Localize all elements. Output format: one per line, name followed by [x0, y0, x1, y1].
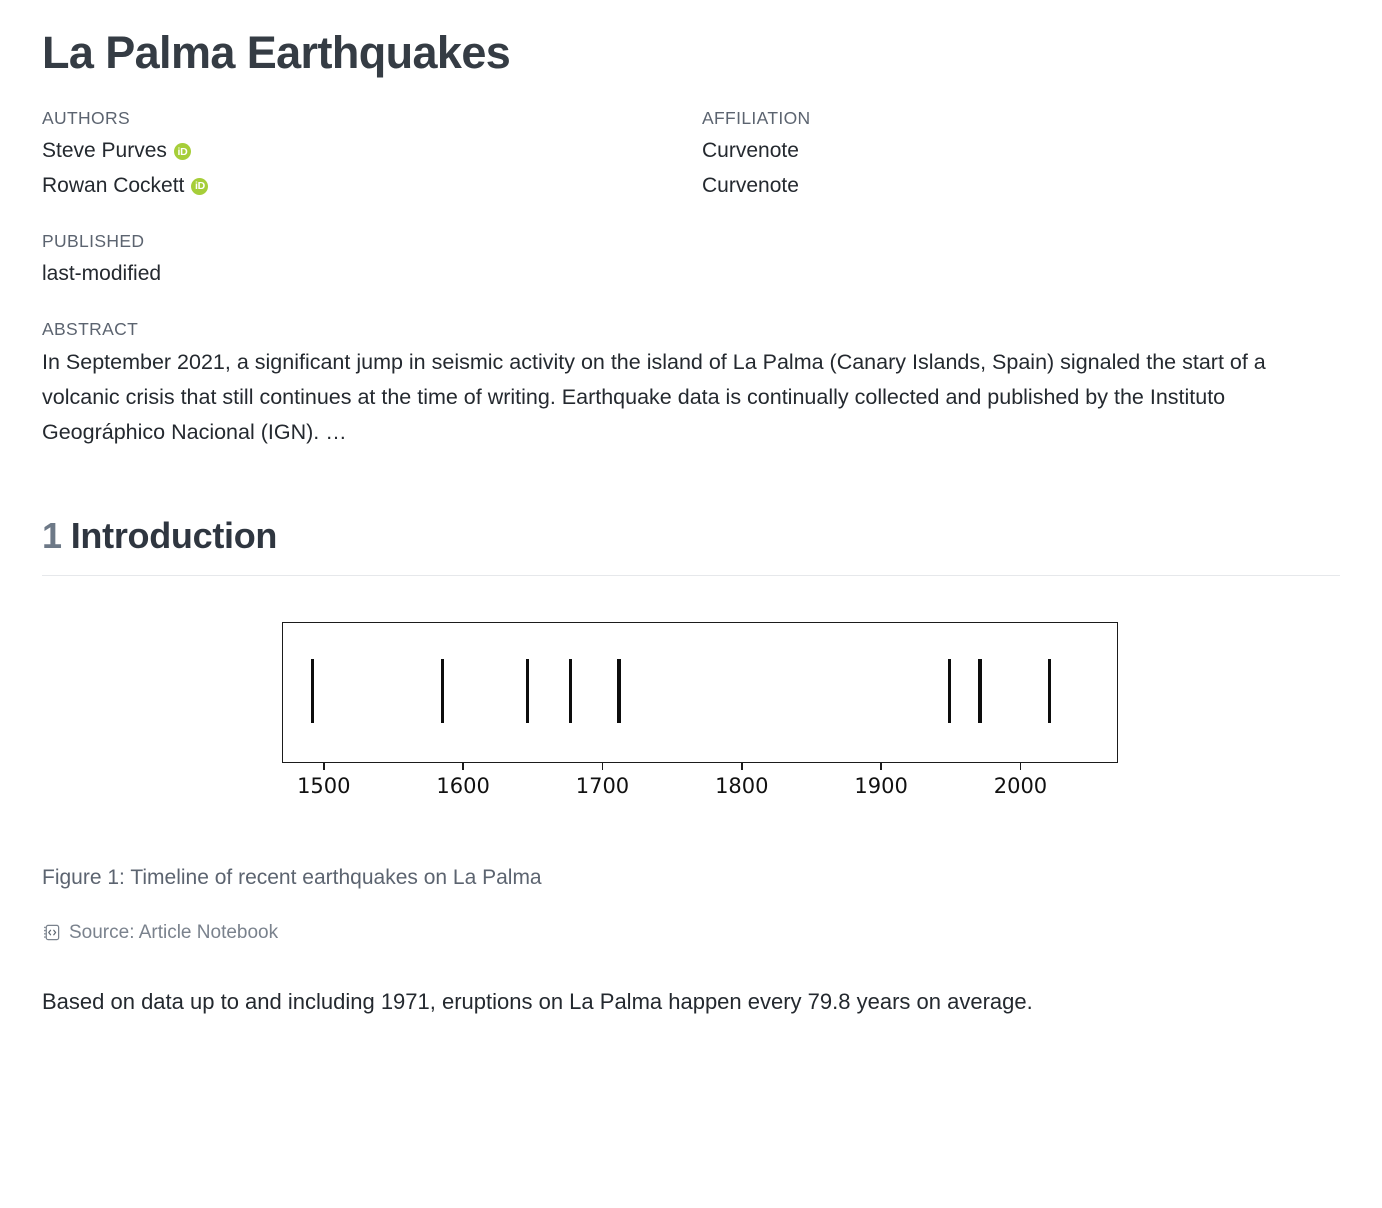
published-value: last-modified	[42, 257, 1360, 290]
x-axis-tick	[323, 763, 325, 770]
event-mark	[441, 659, 444, 723]
published-block: PUBLISHED last-modified	[42, 228, 1360, 290]
affiliation-value: Curvenote	[702, 134, 1360, 167]
x-axis-tick	[462, 763, 464, 770]
event-mark	[1048, 659, 1051, 723]
timeline-plot-wrap: 150016001700180019002000	[42, 622, 1360, 818]
author-entry: Steve Purves iD	[42, 134, 702, 167]
published-label: PUBLISHED	[42, 228, 1360, 254]
x-axis-tick-label: 2000	[994, 774, 1047, 798]
section-title: Introduction	[71, 515, 277, 556]
author-name: Steve Purves	[42, 134, 167, 167]
x-axis-tick-label: 1700	[576, 774, 629, 798]
x-axis-tick-label: 1600	[436, 774, 489, 798]
figure-source-label: Source: Article Notebook	[69, 920, 278, 947]
abstract-block: ABSTRACT In September 2021, a significan…	[42, 316, 1360, 450]
orcid-icon[interactable]: iD	[191, 178, 208, 195]
affiliation-label: AFFILIATION	[702, 105, 1360, 131]
page-title: La Palma Earthquakes	[42, 26, 1360, 79]
abstract-label: ABSTRACT	[42, 316, 1360, 342]
author-entry: Rowan Cockett iD	[42, 169, 702, 202]
x-axis-tick-label: 1900	[854, 774, 907, 798]
event-mark	[526, 659, 529, 723]
x-axis-tick	[880, 763, 882, 770]
event-mark	[978, 659, 981, 723]
orcid-icon-label: iD	[195, 181, 205, 192]
abstract-text: In September 2021, a significant jump in…	[42, 345, 1342, 449]
event-mark	[311, 659, 314, 723]
x-axis-tick-label: 1800	[715, 774, 768, 798]
figure-source[interactable]: Source: Article Notebook	[42, 920, 1360, 947]
plot-frame	[282, 622, 1118, 763]
event-mark	[948, 659, 951, 723]
frontmatter: AUTHORS Steve Purves iD Rowan Cockett iD…	[42, 105, 1360, 202]
x-axis-tick	[1020, 763, 1022, 770]
x-axis-tick	[741, 763, 743, 770]
figure-caption: Figure 1: Timeline of recent earthquakes…	[42, 862, 1360, 894]
section-number: 1	[42, 515, 62, 556]
authors-label: AUTHORS	[42, 105, 702, 131]
event-mark	[569, 659, 572, 723]
affiliation-column: AFFILIATION Curvenote Curvenote	[702, 105, 1360, 202]
x-axis-tick-label: 1500	[297, 774, 350, 798]
notebook-icon	[42, 923, 61, 942]
affiliation-value: Curvenote	[702, 169, 1360, 202]
section-heading-introduction: 1Introduction	[42, 514, 1360, 557]
article-page: La Palma Earthquakes AUTHORS Steve Purve…	[0, 0, 1382, 1020]
event-mark	[617, 659, 620, 723]
author-name: Rowan Cockett	[42, 169, 184, 202]
orcid-icon-label: iD	[178, 147, 188, 158]
orcid-icon[interactable]: iD	[174, 143, 191, 160]
x-axis-tick	[602, 763, 604, 770]
intro-paragraph: Based on data up to and including 1971, …	[42, 984, 1312, 1020]
authors-column: AUTHORS Steve Purves iD Rowan Cockett iD	[42, 105, 702, 202]
figure-1: 150016001700180019002000 Figure 1: Timel…	[42, 622, 1360, 946]
section-divider	[42, 575, 1340, 576]
timeline-plot: 150016001700180019002000	[282, 622, 1120, 818]
